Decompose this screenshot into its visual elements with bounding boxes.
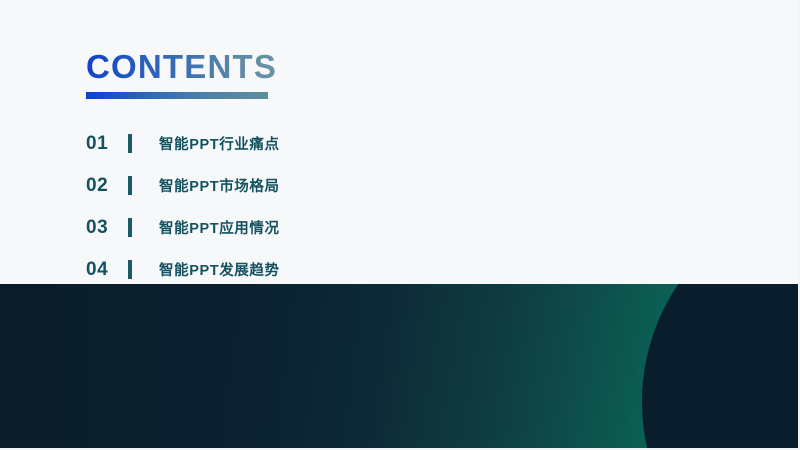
toc-item-number: 02 [86, 176, 128, 195]
band-shading-overlay [0, 284, 420, 450]
page-title: CONTENTS [86, 47, 277, 87]
toc-item-label: 智能PPT行业痛点 [159, 133, 280, 154]
toc-item-number: 04 [86, 260, 128, 279]
list-item[interactable]: 01 智能PPT行业痛点 [86, 122, 506, 164]
decorative-arc-shape [642, 284, 800, 450]
toc-item-number: 03 [86, 218, 128, 237]
contents-slide: CONTENTS 01 智能PPT行业痛点 02 智能PPT市场格局 03 智能… [0, 0, 800, 450]
decorative-bottom-band [0, 284, 800, 450]
vertical-divider-icon [128, 134, 132, 153]
list-item[interactable]: 03 智能PPT应用情况 [86, 206, 506, 248]
vertical-divider-icon [128, 260, 132, 279]
toc-item-label: 智能PPT发展趋势 [159, 259, 280, 280]
toc-item-label: 智能PPT市场格局 [159, 175, 280, 196]
list-item[interactable]: 02 智能PPT市场格局 [86, 164, 506, 206]
toc-item-number: 01 [86, 134, 128, 153]
table-of-contents: 01 智能PPT行业痛点 02 智能PPT市场格局 03 智能PPT应用情况 0… [86, 122, 506, 290]
toc-item-label: 智能PPT应用情况 [159, 217, 280, 238]
vertical-divider-icon [128, 176, 132, 195]
title-underline-rule [86, 92, 268, 99]
vertical-divider-icon [128, 218, 132, 237]
